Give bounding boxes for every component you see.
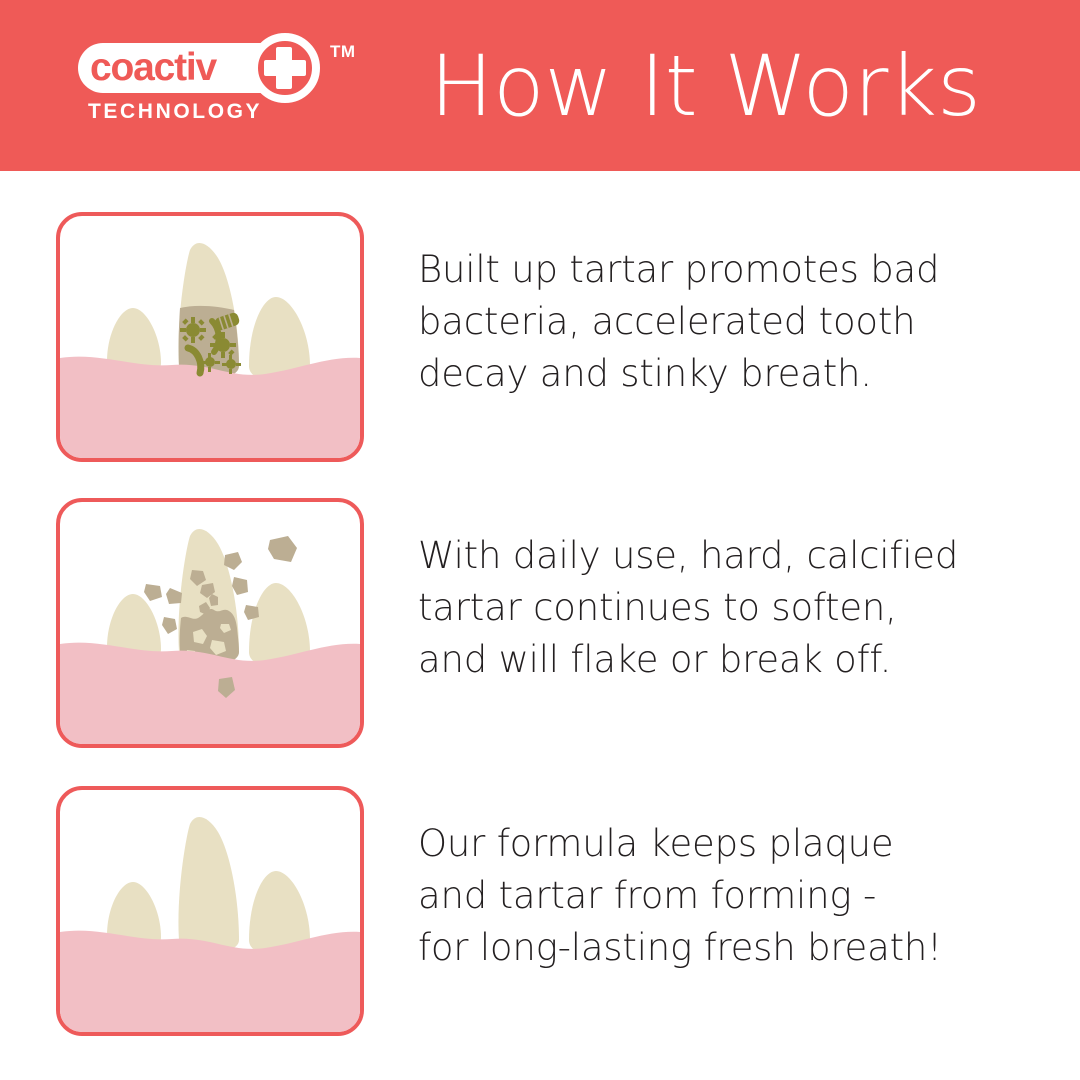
step-3-description: Our formula keeps plaque and tartar from… — [418, 818, 1018, 974]
bacteria-spiky-1 — [180, 317, 206, 343]
coactiv-logo: coactiv TM TECHNOLOGY — [78, 40, 353, 136]
trademark-symbol: TM — [330, 42, 356, 62]
illustration-panel-tartar-bacteria — [56, 212, 364, 462]
logo-subtitle: TECHNOLOGY — [88, 100, 262, 124]
step-1-description: Built up tartar promotes bad bacteria, a… — [418, 244, 1018, 400]
clean-teeth-illustration — [60, 790, 360, 1032]
step-3-line-3: for long-lasting fresh breath! — [418, 922, 1018, 974]
plus-icon-horizontal-bar — [264, 60, 306, 76]
step-1-line-2: bacteria, accelerated tooth — [418, 296, 1018, 348]
step-2-description: With daily use, hard, calcified tartar c… — [418, 530, 1018, 686]
step-1-line-3: decay and stinky breath. — [418, 348, 1018, 400]
tooth-flaking-tartar-illustration — [60, 502, 360, 744]
step-1-line-1: Built up tartar promotes bad — [418, 244, 1018, 296]
step-row-2: With daily use, hard, calcified tartar c… — [0, 494, 1080, 752]
step-row-3: Our formula keeps plaque and tartar from… — [0, 782, 1080, 1040]
illustration-panel-flaking-tartar — [56, 498, 364, 748]
step-3-line-1: Our formula keeps plaque — [418, 818, 1018, 870]
header-banner: coactiv TM TECHNOLOGY How It Works — [0, 0, 1080, 171]
step-2-line-3: and will flake or break off. — [418, 634, 1018, 686]
step-3-line-2: and tartar from forming - — [418, 870, 1018, 922]
tooth-tartar-bacteria-illustration — [60, 216, 360, 458]
step-2-line-2: tartar continues to soften, — [418, 582, 1018, 634]
illustration-panel-clean-teeth — [56, 786, 364, 1036]
page-title: How It Works — [430, 26, 1030, 146]
step-row-1: Built up tartar promotes bad bacteria, a… — [0, 208, 1080, 466]
step-2-line-1: With daily use, hard, calcified — [418, 530, 1018, 582]
